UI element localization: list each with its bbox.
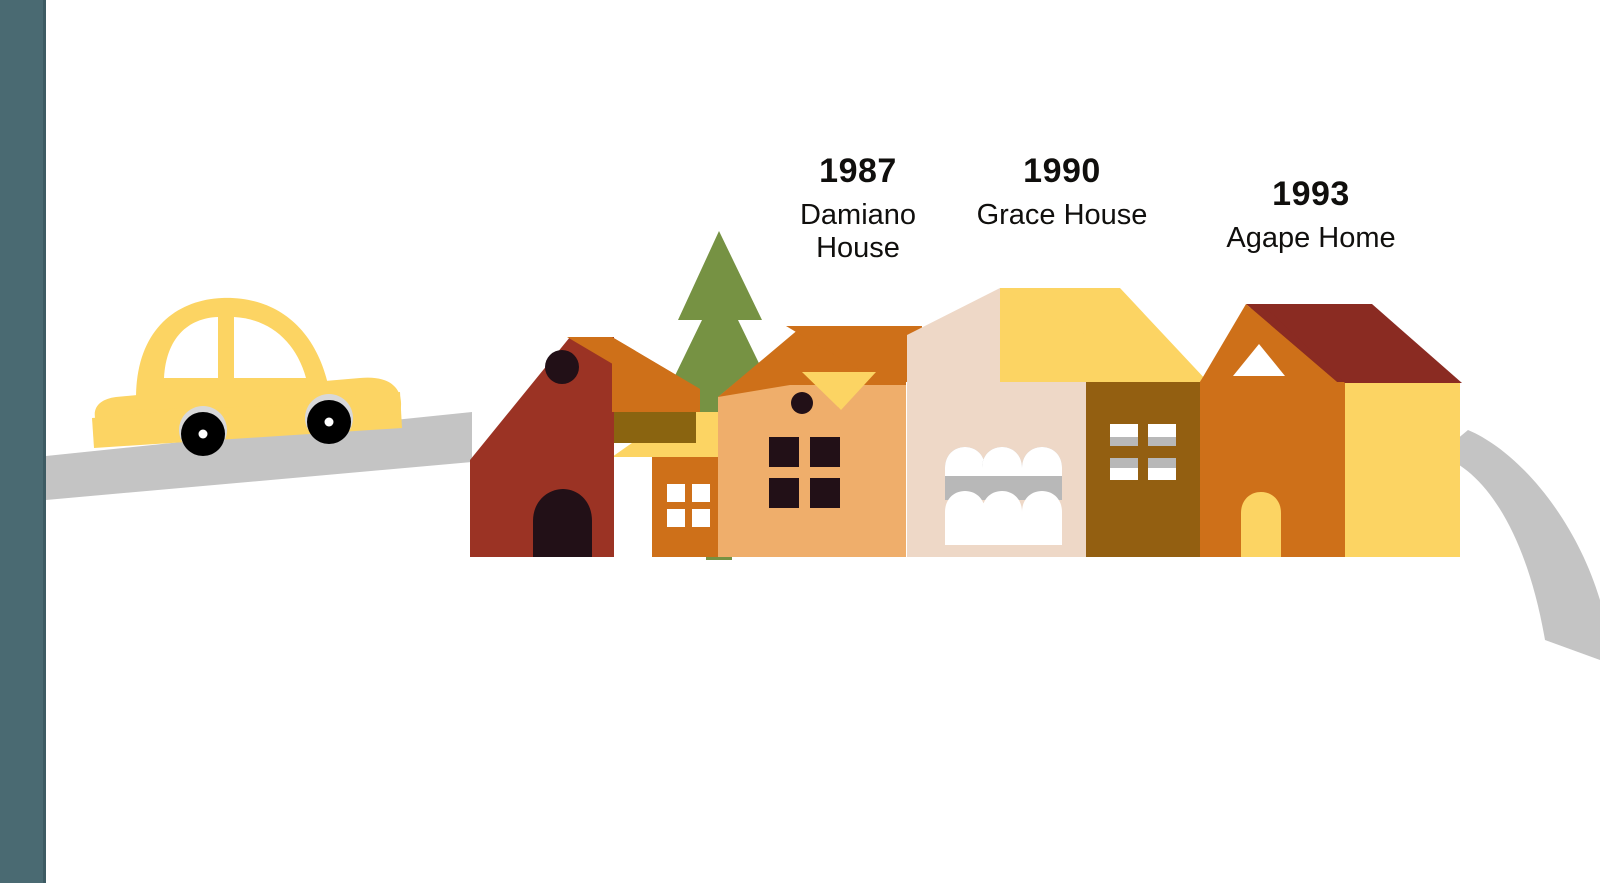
milestone-year-1990: 1990 <box>952 152 1172 191</box>
milestone-name-damiano: Damiano House <box>748 199 968 266</box>
milestone-year-1987: 1987 <box>748 152 968 191</box>
milestone-name-agape: Agape Home <box>1200 222 1422 255</box>
milestone-label-damiano: 1987 Damiano House <box>748 152 968 266</box>
brown-house <box>1084 380 1202 557</box>
milestone-label-grace: 1990 Grace House <box>952 152 1172 232</box>
agape-house <box>1200 304 1462 557</box>
milestone-year-1993: 1993 <box>1200 175 1422 214</box>
illustration-canvas: 1987 Damiano House 1990 Grace House 1993… <box>0 0 1600 883</box>
milestone-label-agape: 1993 Agape Home <box>1200 175 1422 255</box>
milestone-name-grace: Grace House <box>952 199 1172 232</box>
neighborhood-illustration <box>0 0 1600 883</box>
